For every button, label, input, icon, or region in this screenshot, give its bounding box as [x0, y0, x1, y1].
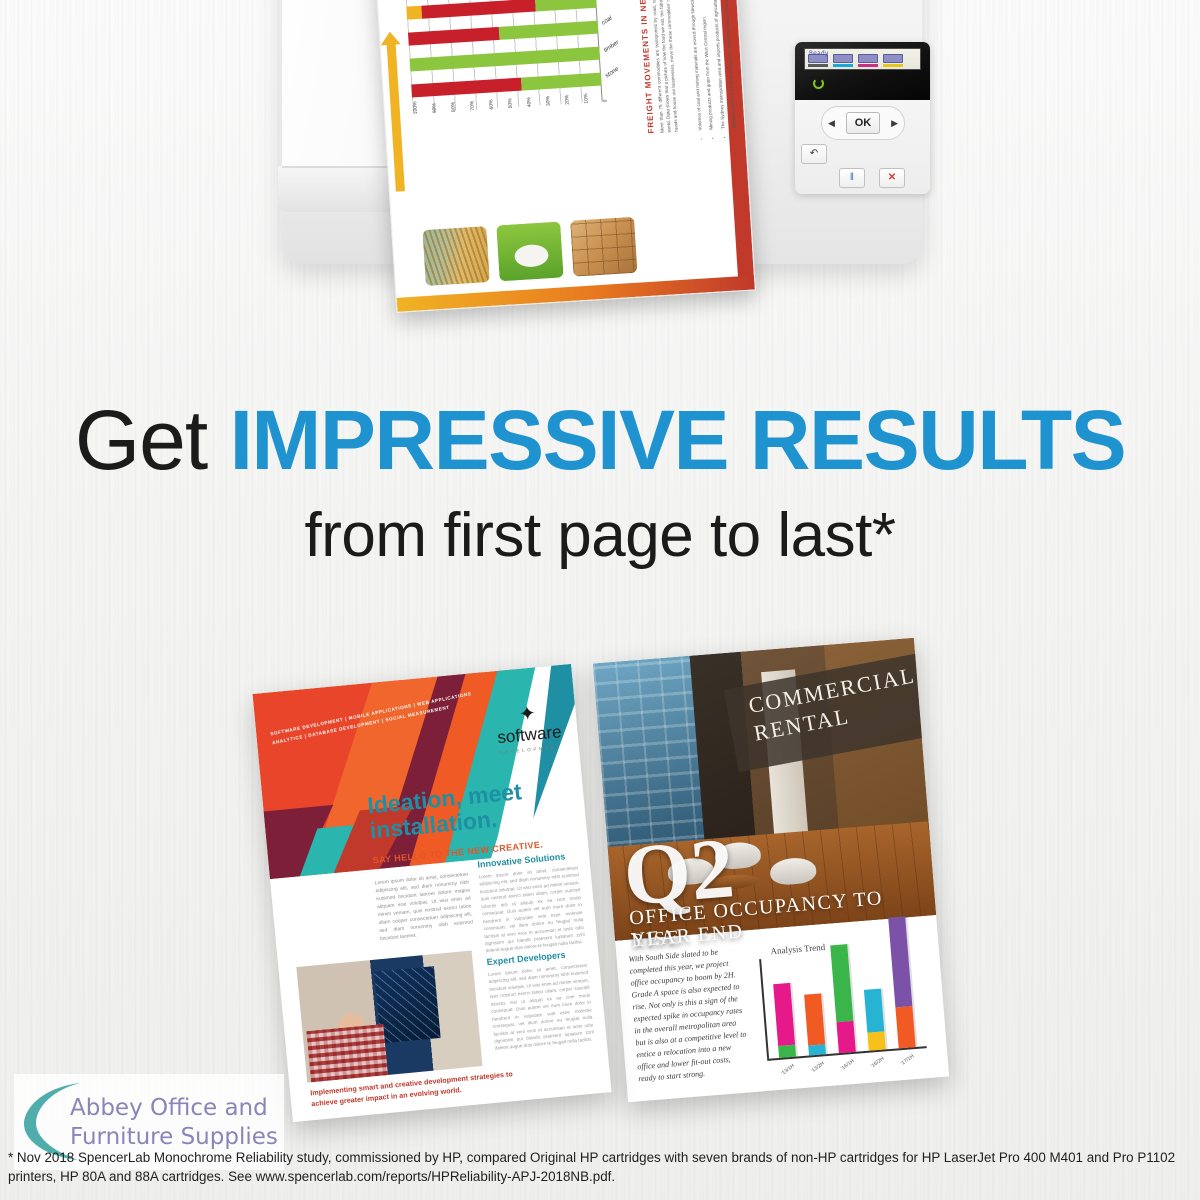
analysis-tick-label: '16/2H: [870, 1056, 885, 1070]
chart-category-label: cotton: [600, 0, 617, 2]
analysis-tick-label: '13/1H: [780, 1063, 795, 1077]
freight-bar-chart: [400, 0, 603, 113]
right-arrow-icon[interactable]: ▶: [891, 119, 898, 128]
headline-prefix: Get: [75, 393, 230, 487]
report-photo-strip: [422, 217, 637, 286]
company-logo-text: Abbey Office and Furniture Supplies: [70, 1094, 278, 1152]
headline-line-1: Get IMPRESSIVE RESULTS: [0, 398, 1200, 484]
analysis-y-axis: [759, 959, 769, 1059]
legal-footnote: * Nov 2018 SpencerLab Monochrome Reliabi…: [0, 1148, 1200, 1187]
back-button[interactable]: ↶: [801, 144, 827, 164]
analysis-tick-label: '13/2H: [810, 1061, 825, 1075]
chart-tick-label: 0: [603, 99, 609, 102]
chart-tick-label: 70%: [469, 101, 476, 111]
chart-tick-label: 80%: [450, 102, 457, 112]
ok-button[interactable]: OK: [846, 112, 880, 134]
analysis-bar: [773, 982, 796, 1058]
chart-category-label: stone: [604, 66, 620, 79]
headline-block: Get IMPRESSIVE RESULTS from first page t…: [0, 398, 1200, 571]
printed-freight-report: FREIGHT MODES F NSW ANNUAL PERCENTAGES F…: [370, 0, 756, 313]
printer-lcd-display: Ready: [804, 48, 921, 70]
software-intro-body: Lorem ipsum dolor sit amet, consectetuer…: [374, 871, 474, 944]
control-panel-buttons: ◀ OK ▶ ↶ ‖ ✕: [795, 100, 930, 194]
logo-line-1: Abbey Office and: [70, 1094, 278, 1123]
photo-monitor: [375, 966, 441, 1043]
wheat-photo: [422, 226, 489, 286]
brochure-commercial-rental: COMMERCIAL RENTAL Q2 OFFICE OCCUPANCY TO…: [593, 638, 949, 1102]
analysis-bar: [864, 989, 886, 1051]
chart-tick-label: 100%: [412, 101, 419, 114]
analysis-tick-label: '17/1H: [900, 1053, 915, 1067]
innovative-solutions-body: Lorem ipsum dolor sit amet, consectetuer…: [478, 864, 585, 955]
report-yellow-arrow-icon: [387, 43, 405, 191]
analysis-trend-chart: Analysis Trend '13/1H'13/2H'16/1H'16/2H'…: [748, 934, 934, 1080]
printer-control-panel[interactable]: Ready ◀: [795, 42, 930, 194]
analysis-tick-label: '16/1H: [840, 1058, 855, 1072]
timber-photo: [570, 217, 637, 277]
power-indicator-icon: [813, 78, 824, 89]
analysis-trend-title: Analysis Trend: [770, 942, 825, 956]
software-logo: ✦ software DEVELOPMENT: [495, 701, 563, 755]
job-status-button[interactable]: ‖: [839, 168, 865, 188]
toner-gauge-cyan: [833, 54, 853, 68]
advertisement-canvas: Ready ◀: [0, 0, 1200, 1200]
control-panel-bezel: Ready: [795, 42, 930, 100]
report-text-column: FREIGHT MOVEMENTS IN NEW SOUTH WALES Mor…: [629, 0, 721, 146]
chart-category-label: coal: [601, 16, 613, 27]
brochure-group: COMMERCIAL RENTAL Q2 OFFICE OCCUPANCY TO…: [0, 640, 1200, 1120]
cancel-button[interactable]: ✕: [879, 168, 905, 188]
chart-category-label: timber: [603, 40, 620, 54]
chart-bar-segment: [406, 6, 422, 20]
expert-developers-body: Lorem ipsum dolor sit amet, consectetuer…: [488, 962, 595, 1053]
headline-line-2: from first page to last*: [0, 500, 1200, 571]
analysis-bar: [804, 994, 826, 1056]
chart-tick-label: 30%: [545, 96, 552, 106]
toner-gauge-magenta: [858, 54, 878, 68]
chart-tick-label: 50%: [507, 98, 514, 108]
photo-plaid-shirt: [306, 1024, 388, 1082]
chart-tick-label: 90%: [431, 103, 438, 113]
printer-status-text: Ready: [809, 50, 829, 57]
toner-gauge-yellow: [883, 54, 903, 68]
brochure-software-development: SOFTWARE DEVELOPMENT | MOBILE APPLICATIO…: [252, 664, 611, 1122]
chart-tick-label: 20%: [564, 95, 571, 105]
analysis-bar: [888, 916, 915, 1048]
analysis-bar: [830, 944, 856, 1053]
navigation-pad[interactable]: ◀ OK ▶: [821, 106, 905, 140]
left-arrow-icon[interactable]: ◀: [828, 119, 835, 128]
printer-scene: Ready ◀: [0, 0, 1200, 314]
rental-body-text: With South Side slated to be completed t…: [628, 945, 750, 1086]
chart-tick-label: 10%: [583, 93, 590, 103]
chart-tick-label: 40%: [526, 97, 533, 107]
chart-tick-label: 60%: [488, 99, 495, 109]
software-section-experts: Expert Developers Lorem ipsum dolor sit …: [486, 948, 595, 1053]
developer-photo: [296, 951, 482, 1083]
sheep-photo: [496, 221, 563, 281]
headline-emphasis: IMPRESSIVE RESULTS: [230, 393, 1126, 487]
report-bullet-list: Volumes of coal and mining materials are…: [682, 0, 742, 131]
software-section-innovative: Innovative Solutions Lorem ipsum dolor s…: [477, 850, 586, 955]
